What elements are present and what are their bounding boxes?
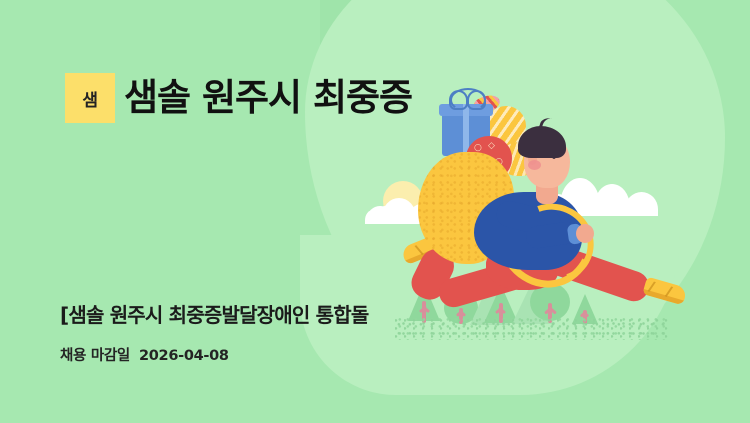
hand (576, 224, 594, 243)
hair (518, 126, 566, 158)
cheek (528, 160, 541, 170)
page-title: 샘솔 원주시 최중증 (124, 71, 412, 125)
deadline-row: 채용 마감일2026-04-08 (60, 344, 229, 365)
job-posting-card: ○ ◇ △ ○ 샘 샘솔 원주시 최중증 [샘솔 원주시 최중증발달장애인 통합… (0, 0, 750, 423)
runner-illustration: ○ ◇ △ ○ (400, 100, 690, 330)
posting-subtitle[interactable]: [샘솔 원주시 최중증발달장애인 통합돌 (60, 301, 406, 329)
deadline-label: 채용 마감일 (60, 348, 130, 364)
shoe-front-icon (642, 277, 687, 306)
sam-logo-badge[interactable]: 샘 (65, 73, 115, 123)
deadline-date: 2026-04-08 (139, 348, 229, 364)
